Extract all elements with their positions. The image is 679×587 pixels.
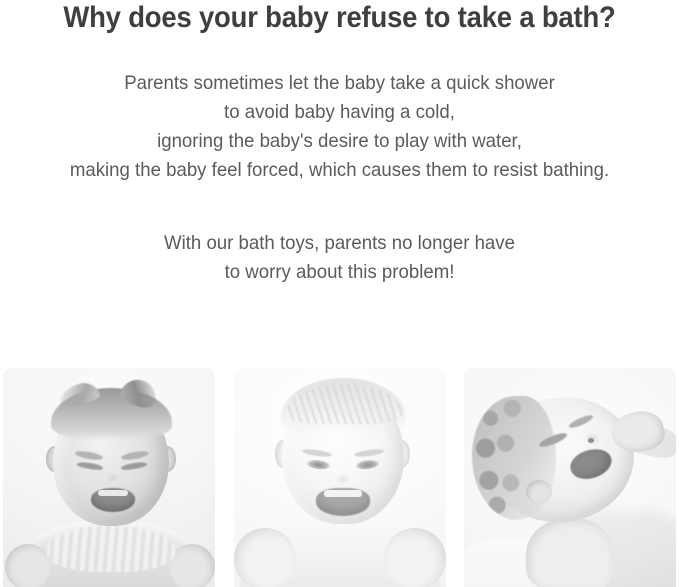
photo-card-crying-toddler [3,368,215,587]
infographic-page: Why does your baby refuse to take a bath… [0,0,679,587]
baby-teeth [324,490,362,497]
paragraph-line: making the baby feel forced, which cause… [15,156,663,185]
baby-teeth [98,490,128,496]
baby-nose [104,472,122,486]
description-paragraph-1: Parents sometimes let the baby take a qu… [15,69,663,185]
baby-photo-1 [3,368,215,587]
baby-nose [333,472,353,488]
baby-shoulder-right [384,528,446,587]
paragraph-line: ignoring the baby's desire to play with … [15,127,663,156]
baby-arm-left [5,544,51,587]
paragraph-line: to worry about this problem! [15,258,663,287]
photo-gallery [0,368,679,587]
baby-collar [47,526,175,572]
photo-card-crying-baby-lying [464,368,676,587]
baby-shoulder [526,518,612,587]
page-title: Why does your baby refuse to take a bath… [29,0,650,36]
paragraph-line: With our bath toys, parents no longer ha… [15,229,663,258]
baby-shoulder-left [234,528,296,587]
baby-ear [526,480,552,504]
photo-card-screaming-toddler [234,368,446,587]
baby-photo-2 [234,368,446,587]
paragraph-line: to avoid baby having a cold, [15,98,663,127]
baby-nostril [588,438,594,443]
baby-arm-right [169,544,215,587]
paragraph-line: Parents sometimes let the baby take a qu… [15,69,663,98]
baby-photo-3 [464,368,676,587]
description-paragraph-2: With our bath toys, parents no longer ha… [15,229,663,287]
